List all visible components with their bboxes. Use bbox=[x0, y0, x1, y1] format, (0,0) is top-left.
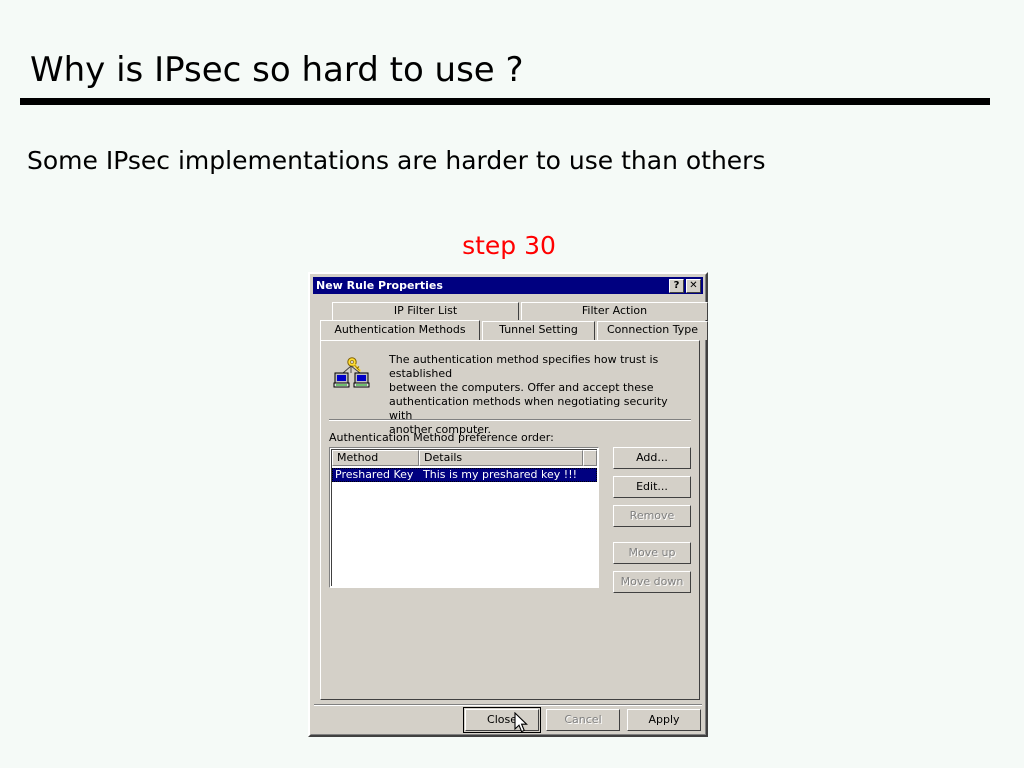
title-divider bbox=[20, 98, 990, 105]
titlebar-button-group: ? ✕ bbox=[669, 279, 701, 293]
list-inner: Method Details Preshared Key This is my … bbox=[331, 449, 597, 586]
page-title: Why is IPsec so hard to use ? bbox=[30, 50, 524, 90]
apply-button[interactable]: Apply bbox=[627, 709, 701, 731]
move-down-button: Move down bbox=[613, 571, 691, 593]
tab-strip: IP Filter List Filter Action Authenticat… bbox=[320, 302, 700, 342]
dialog-titlebar[interactable]: New Rule Properties ? ✕ bbox=[313, 277, 703, 294]
help-icon[interactable]: ? bbox=[669, 279, 684, 293]
tab-ip-filter-list[interactable]: IP Filter List bbox=[332, 302, 519, 320]
step-label-text: step 30 bbox=[462, 231, 556, 260]
tab-filter-action[interactable]: Filter Action bbox=[521, 302, 708, 320]
description-text: The authentication method specifies how … bbox=[389, 353, 688, 437]
edit-button[interactable]: Edit... bbox=[613, 476, 691, 498]
column-header-filler bbox=[583, 450, 597, 466]
description-block: The authentication method specifies how … bbox=[333, 353, 688, 437]
step-label: step 30 bbox=[0, 231, 1024, 260]
two-computers-with-key-icon bbox=[333, 355, 371, 393]
column-header-method[interactable]: Method bbox=[332, 450, 419, 466]
description-line: between the computers. Offer and accept … bbox=[389, 381, 688, 395]
column-header-details[interactable]: Details bbox=[419, 450, 583, 466]
table-row[interactable]: Preshared Key This is my preshared key !… bbox=[332, 468, 597, 482]
slide-body-text: Some IPsec implementations are harder to… bbox=[27, 146, 766, 175]
description-divider bbox=[329, 419, 691, 421]
list-header-row: Method Details bbox=[332, 450, 597, 466]
remove-button: Remove bbox=[613, 505, 691, 527]
authentication-method-list[interactable]: Method Details Preshared Key This is my … bbox=[329, 447, 599, 588]
preference-order-label: Authentication Method preference order: bbox=[329, 431, 554, 444]
cancel-button: Cancel bbox=[546, 709, 620, 731]
cell-method: Preshared Key bbox=[332, 468, 420, 482]
close-icon[interactable]: ✕ bbox=[686, 279, 701, 293]
tab-connection-type[interactable]: Connection Type bbox=[597, 321, 708, 340]
cell-details: This is my preshared key !!! bbox=[420, 468, 597, 482]
add-button[interactable]: Add... bbox=[613, 447, 691, 469]
footer-divider bbox=[314, 704, 702, 706]
new-rule-properties-dialog[interactable]: New Rule Properties ? ✕ IP Filter List F… bbox=[308, 272, 708, 737]
dialog-title-text: New Rule Properties bbox=[316, 279, 443, 292]
tab-authentication-methods[interactable]: Authentication Methods bbox=[320, 320, 480, 340]
description-line: The authentication method specifies how … bbox=[389, 353, 688, 381]
move-up-button: Move up bbox=[613, 542, 691, 564]
tab-tunnel-setting[interactable]: Tunnel Setting bbox=[482, 321, 595, 340]
tab-panel-authentication-methods: The authentication method specifies how … bbox=[320, 340, 700, 700]
close-button[interactable]: Close bbox=[465, 709, 539, 731]
